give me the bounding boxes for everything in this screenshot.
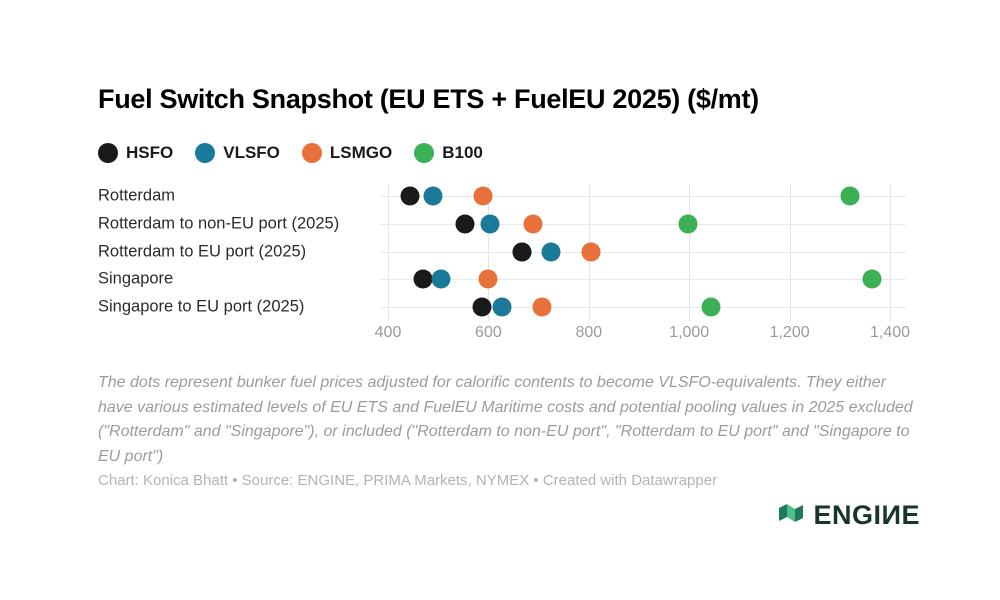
category-axis-labels: RotterdamRotterdam to non-EU port (2025)… [98,184,373,321]
data-point-vlsfo[interactable] [480,214,499,233]
data-point-hsfo[interactable] [513,242,532,261]
category-gridline [380,307,906,308]
x-axis-tick-label: 1,400 [870,324,910,342]
chart-legend: HSFOVLSFOLSMGOB100 [98,141,505,165]
x-gridline [890,184,891,321]
data-point-hsfo[interactable] [414,270,433,289]
data-point-b100[interactable] [841,187,860,206]
x-axis-tick-label: 1,000 [669,324,709,342]
engine-logo-text: ENGINE [813,500,920,531]
category-gridline [380,252,906,253]
data-point-b100[interactable] [701,298,720,317]
data-point-lsmgo[interactable] [533,298,552,317]
data-point-vlsfo[interactable] [541,242,560,261]
data-point-b100[interactable] [863,270,882,289]
data-point-lsmgo[interactable] [523,214,542,233]
legend-item-b100[interactable]: B100 [414,143,483,163]
category-gridline [380,196,906,197]
legend-swatch-icon [302,143,322,163]
legend-swatch-icon [414,143,434,163]
data-point-lsmgo[interactable] [473,187,492,206]
x-gridline [790,184,791,321]
category-gridline [380,279,906,280]
chart-canvas: Fuel Switch Snapshot (EU ETS + FuelEU 20… [0,0,1000,600]
data-point-vlsfo[interactable] [424,187,443,206]
category-label: Rotterdam to non-EU port (2025) [98,214,339,233]
data-point-b100[interactable] [678,214,697,233]
legend-swatch-icon [195,143,215,163]
category-label: Rotterdam to EU port (2025) [98,242,306,261]
legend-label: VLSFO [223,143,280,163]
legend-label: HSFO [126,143,173,163]
engine-logo: ENGINE [776,500,920,531]
data-point-vlsfo[interactable] [492,298,511,317]
category-label: Rotterdam [98,187,175,206]
legend-swatch-icon [98,143,118,163]
data-point-lsmgo[interactable] [581,242,600,261]
chart-note: The dots represent bunker fuel prices ad… [98,371,913,469]
category-label: Singapore [98,270,173,289]
x-axis-tick-label: 600 [475,324,502,342]
x-axis-tick-label: 800 [575,324,602,342]
data-point-hsfo[interactable] [472,298,491,317]
data-point-hsfo[interactable] [401,187,420,206]
legend-label: B100 [442,143,483,163]
chart-credit: Chart: Konica Bhatt • Source: ENGINE, PR… [98,472,717,489]
legend-item-lsmgo[interactable]: LSMGO [302,143,392,163]
engine-mark-icon [776,501,806,531]
legend-item-vlsfo[interactable]: VLSFO [195,143,280,163]
plot-area: 4006008001,0001,2001,400 [380,184,906,321]
x-axis-tick-label: 400 [375,324,402,342]
data-point-hsfo[interactable] [455,214,474,233]
x-gridline [388,184,389,321]
data-point-lsmgo[interactable] [478,270,497,289]
category-label: Singapore to EU port (2025) [98,298,304,317]
x-gridline [689,184,690,321]
x-axis-tick-label: 1,200 [770,324,810,342]
data-point-vlsfo[interactable] [431,270,450,289]
page-title: Fuel Switch Snapshot (EU ETS + FuelEU 20… [98,84,759,115]
legend-item-hsfo[interactable]: HSFO [98,143,173,163]
legend-label: LSMGO [330,143,392,163]
